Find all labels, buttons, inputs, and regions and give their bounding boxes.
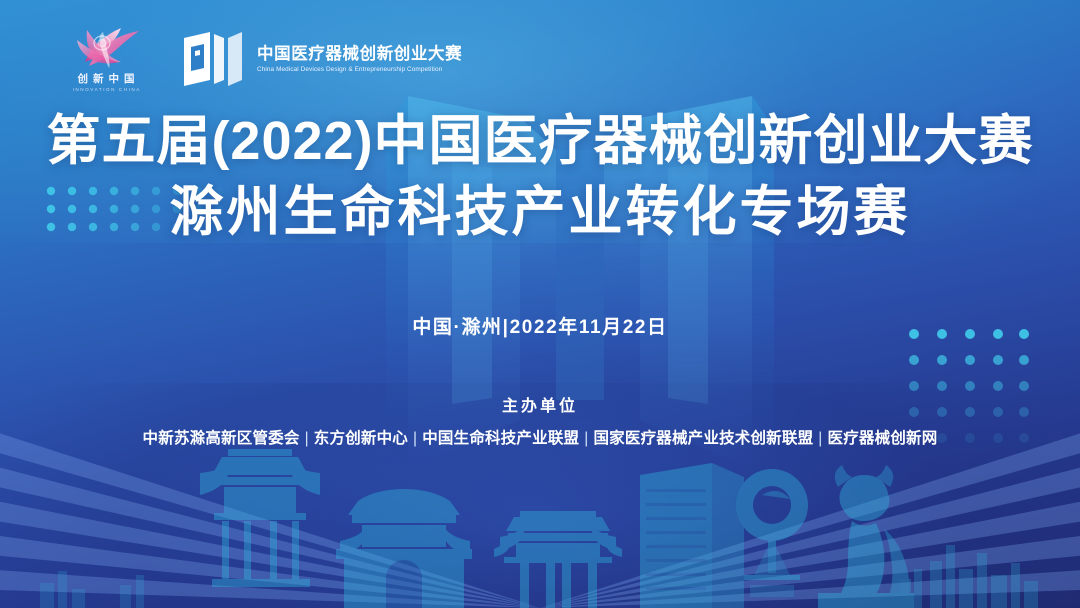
organizer-separator: |	[813, 430, 827, 447]
chinese-pavilion-silhouette	[200, 449, 320, 587]
office-tower-silhouette	[640, 463, 744, 608]
competition-logo-cn: 中国医疗器械创新创业大赛	[257, 45, 462, 63]
innovation-china-logo: 创新中国 INNOVATION CHINA	[56, 26, 156, 92]
competition-logo: 中国医疗器械创新创业大赛 China Medical Devices Desig…	[182, 30, 462, 88]
organizer-separator: |	[408, 430, 422, 447]
headline-block: 第五届(2022)中国医疗器械创新创业大赛 滁州生命科技产业转化专场赛	[0, 112, 1080, 242]
logo-bar: 创新中国 INNOVATION CHINA 中国医疗器械创新创业大赛	[56, 26, 462, 92]
innovation-china-logo-cn: 创新中国	[73, 71, 140, 86]
memorial-archway-silhouette	[494, 511, 622, 608]
left-skyline-silhouette	[40, 571, 144, 608]
organizer-item: 中国生命科技产业联盟	[422, 430, 579, 447]
organizer-item: 中新苏滁高新区管委会	[143, 430, 300, 447]
organizers-list: 中新苏滁高新区管委会|东方创新中心|中国生命科技产业联盟|国家医疗器械产业技术创…	[0, 426, 1080, 448]
city-skyline-silhouette	[900, 545, 1038, 608]
merlion-statue-silhouette	[818, 465, 914, 608]
organizer-separator: |	[300, 430, 314, 447]
organizer-separator: |	[579, 430, 593, 447]
competition-logo-en: China Medical Devices Design & Entrepren…	[257, 66, 456, 73]
organizer-item: 国家医疗器械产业技术创新联盟	[593, 430, 813, 447]
event-location-date: 中国·滁州|2022年11月22日	[0, 312, 1080, 339]
open-door-logo-icon	[182, 30, 244, 88]
event-poster: 创新中国 INNOVATION CHINA 中国医疗器械创新创业大赛	[0, 0, 1080, 608]
event-title-sub: 滁州生命科技产业转化专场赛	[0, 183, 1080, 241]
city-skyline-silhouettes	[0, 433, 1080, 608]
bird-logo-icon	[69, 26, 143, 68]
organizers-label: 主办单位	[0, 392, 1080, 416]
organizer-item: 东方创新中心	[314, 430, 408, 447]
organizer-item: 医疗器械创新网	[828, 430, 938, 447]
background-glow-bottom	[0, 383, 1080, 608]
innovation-china-logo-en: INNOVATION CHINA	[71, 87, 141, 92]
ring-sculpture-silhouette	[736, 469, 808, 597]
city-gate-silhouette	[336, 489, 472, 608]
event-title-main: 第五届(2022)中国医疗器械创新创业大赛	[0, 112, 1080, 170]
